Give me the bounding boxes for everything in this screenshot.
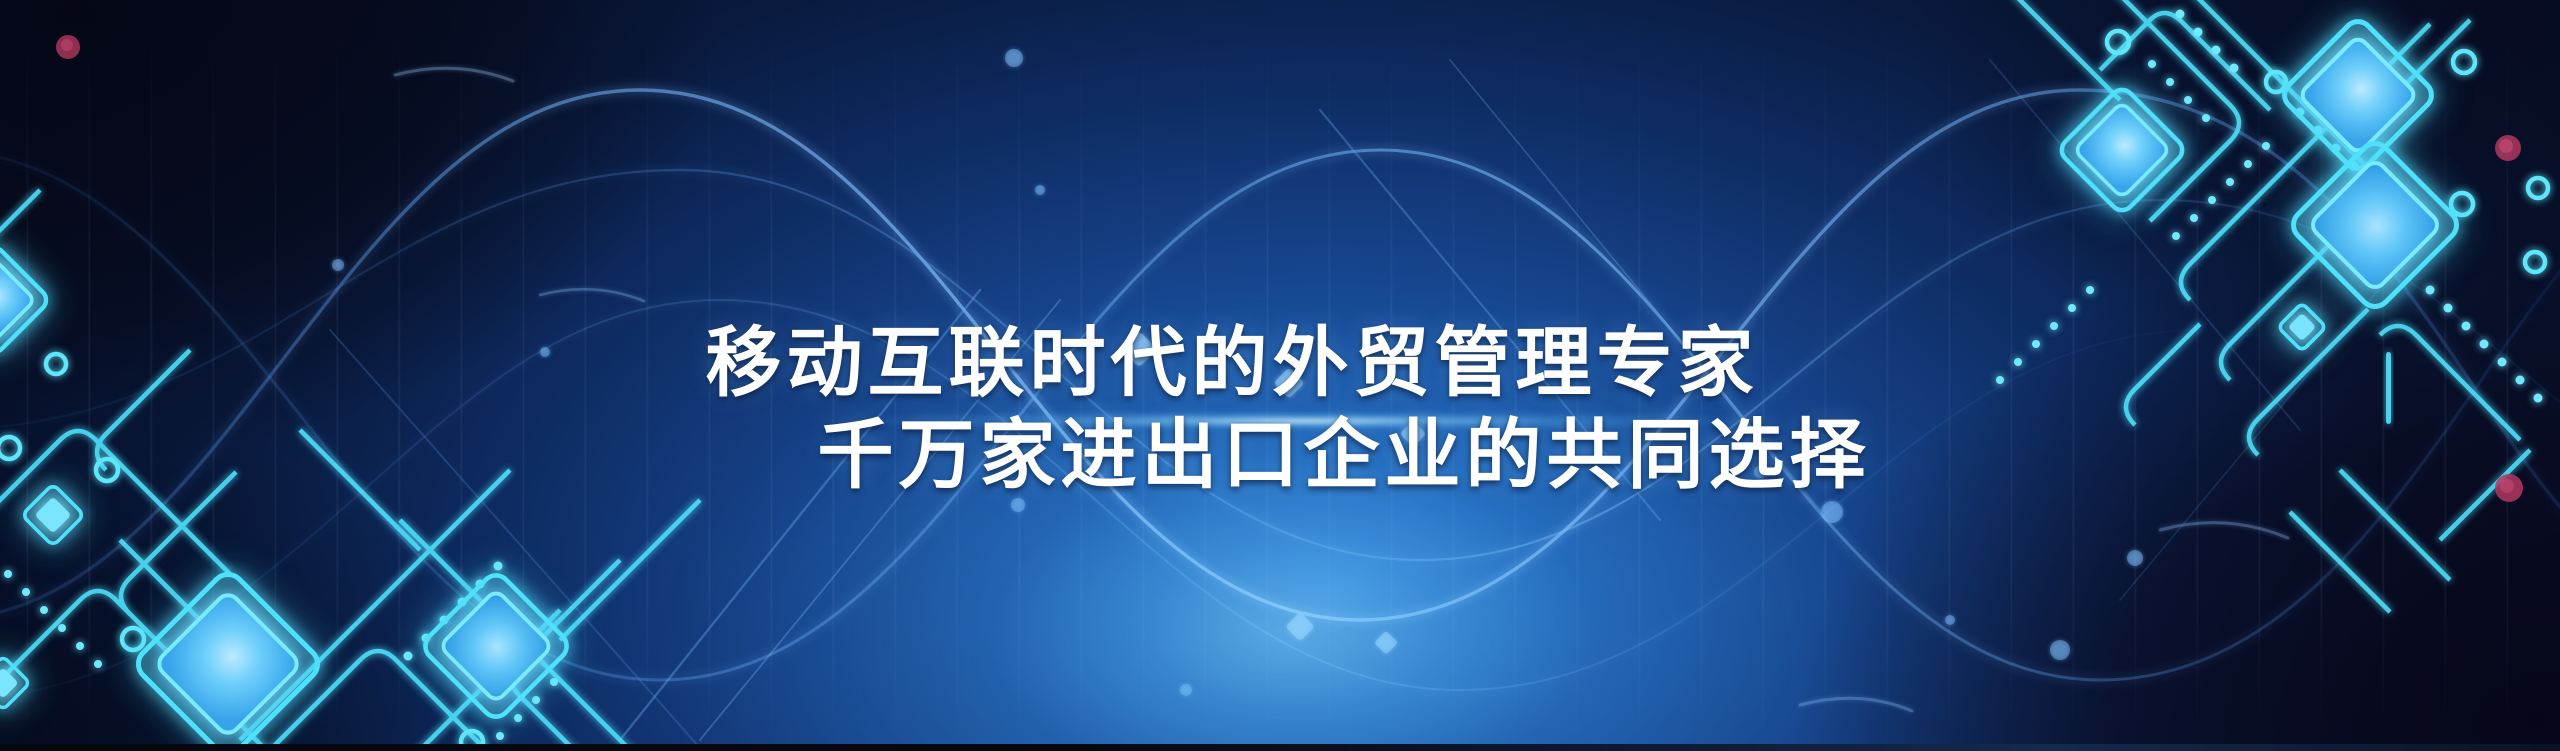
circuit-traces-left [0,190,700,751]
circuit-decor-left [0,0,2560,751]
circuit-diamonds-left [0,243,572,751]
hero-banner: 移动互联时代的外贸管理专家 千万家进出口企业的共同选择 [0,0,2560,751]
bottom-edge-strip [0,744,2560,751]
